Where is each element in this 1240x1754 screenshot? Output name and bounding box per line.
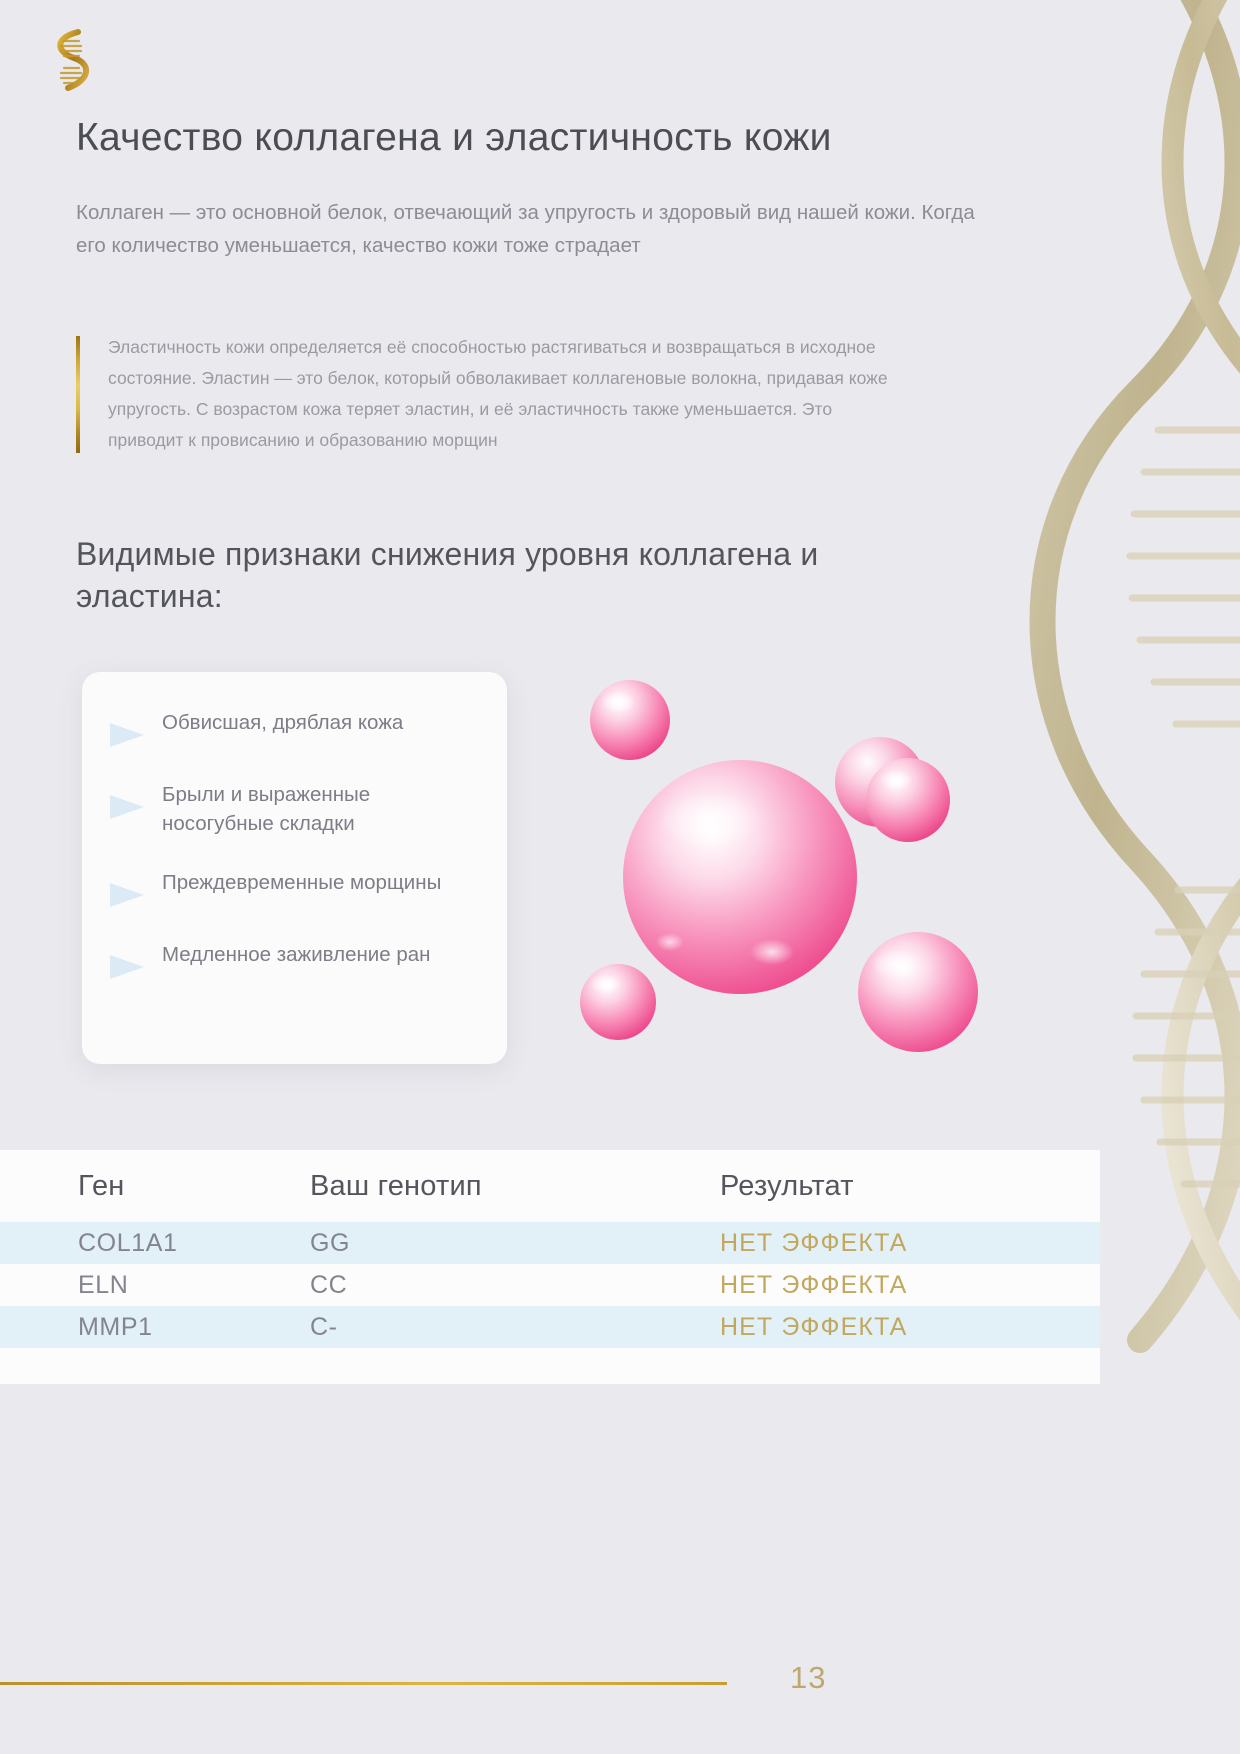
list-item-label: Обвисшая, дряблая кожа (162, 706, 403, 737)
section-heading: Видимые признаки снижения уровня коллаге… (76, 533, 896, 617)
column-header-genotype: Ваш генотип (310, 1170, 720, 1203)
cell-genotype: GG (310, 1229, 720, 1258)
list-item: Брыли и выраженные носогубные складки (108, 778, 477, 838)
cell-gene: COL1A1 (0, 1229, 310, 1258)
list-item: Обвисшая, дряблая кожа (108, 706, 477, 750)
list-item: Медленное заживление ран (108, 938, 477, 982)
results-table: Ген Ваш генотип Результат COL1A1 GG НЕТ … (0, 1150, 1100, 1384)
list-item-label: Преждевременные морщины (162, 866, 441, 897)
cell-gene: MMP1 (0, 1313, 310, 1342)
page-footer: 13 (0, 1634, 1100, 1754)
signs-card: Обвисшая, дряблая кожа Брыли и выраженны… (82, 672, 507, 1064)
column-header-gene: Ген (0, 1170, 310, 1203)
page-title: Качество коллагена и эластичность кожи (76, 115, 976, 161)
table-row: COL1A1 GG НЕТ ЭФФЕКТА (0, 1222, 1100, 1264)
triangle-right-icon (108, 952, 148, 982)
triangle-right-icon (108, 880, 148, 910)
table-row: MMP1 C- НЕТ ЭФФЕКТА (0, 1306, 1100, 1348)
column-header-result: Результат (720, 1170, 1100, 1203)
callout-block: Эластичность кожи определяется её способ… (76, 332, 906, 457)
list-item: Преждевременные морщины (108, 866, 477, 910)
cell-genotype: C- (310, 1313, 720, 1342)
table-header-row: Ген Ваш генотип Результат (0, 1150, 1100, 1222)
cell-result: НЕТ ЭФФЕКТА (720, 1313, 1100, 1342)
list-item-label: Брыли и выраженные носогубные складки (162, 778, 477, 838)
list-item-label: Медленное заживление ран (162, 938, 430, 969)
cell-genotype: CC (310, 1271, 720, 1300)
pink-collagen-bubbles-illustration (560, 672, 1030, 1072)
table-row: ELN CC НЕТ ЭФФЕКТА (0, 1264, 1100, 1306)
cell-result: НЕТ ЭФФЕКТА (720, 1271, 1100, 1300)
triangle-right-icon (108, 792, 148, 822)
intro-paragraph: Коллаген — это основной белок, отвечающи… (76, 196, 976, 262)
footer-divider (0, 1682, 727, 1685)
triangle-right-icon (108, 720, 148, 750)
cell-gene: ELN (0, 1271, 310, 1300)
cell-result: НЕТ ЭФФЕКТА (720, 1229, 1100, 1258)
dna-helix-icon (38, 24, 100, 96)
page-number: 13 (790, 1660, 826, 1696)
document-page: Качество коллагена и эластичность кожи К… (0, 0, 1240, 1754)
